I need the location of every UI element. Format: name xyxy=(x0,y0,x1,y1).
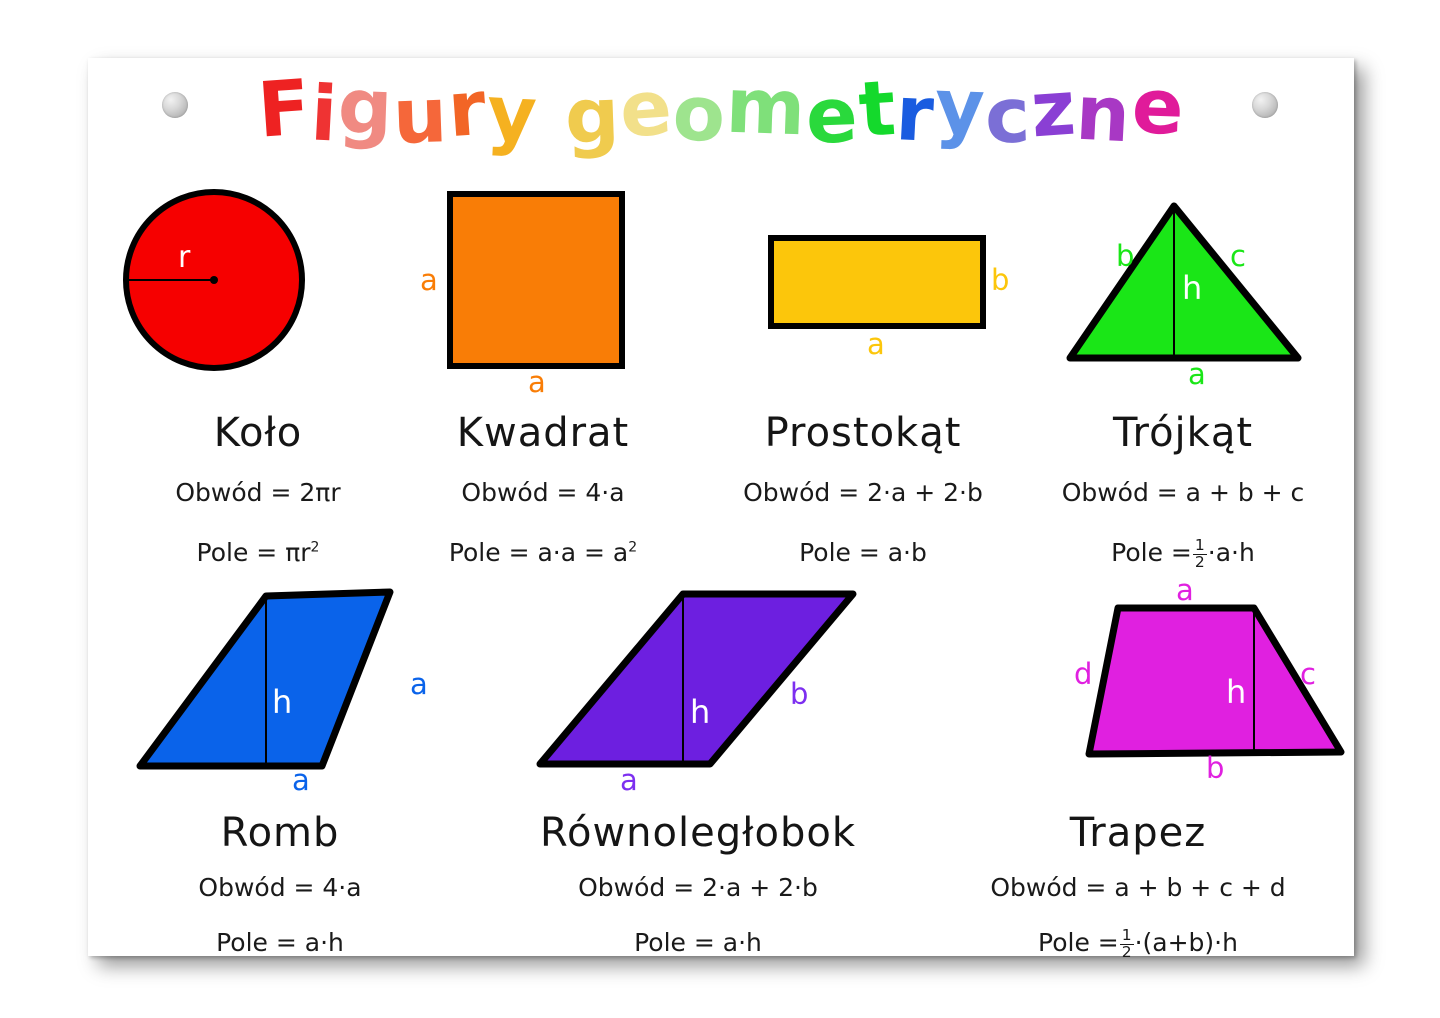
circle-area-exponent: 2 xyxy=(311,540,320,556)
figure-card-square: a a Kwadrat Obwód = 4·a Pole = a·a = a2 xyxy=(408,188,678,598)
trapezoid-area-suffix: ·(a+b)·h xyxy=(1135,928,1238,957)
triangle-label-b: b xyxy=(1116,242,1134,271)
parallelogram-label-b: b xyxy=(790,680,808,709)
title-letter: c xyxy=(984,77,1033,155)
figure-card-rectangle: a b Prostokąt Obwód = 2·a + 2·b Pole = a… xyxy=(713,188,1013,598)
title-letter: F xyxy=(255,69,313,149)
trapezoid-area-formula: Pole =12·(a+b)·h xyxy=(938,928,1338,961)
trapezoid-label-h: h xyxy=(1226,676,1246,708)
circle-perimeter-formula: Obwód = 2πr xyxy=(128,478,388,507)
figure-card-circle: r Koło Obwód = 2πr Pole = πr2 xyxy=(128,188,388,598)
title-letter: o xyxy=(671,75,728,154)
triangle-perimeter-formula: Obwód = a + b + c xyxy=(1038,478,1328,507)
title-letter: z xyxy=(1029,70,1079,149)
title-letter: r xyxy=(894,75,936,153)
rhombus-shape: h a a xyxy=(100,578,460,778)
square-shape: a a xyxy=(408,188,678,373)
triangle-area-formula: Pole =12·a·h xyxy=(1038,538,1328,571)
rectangle-label-b-right: b xyxy=(991,266,1009,295)
figure-name-triangle: Trójkąt xyxy=(1038,410,1328,456)
triangle-area-suffix: ·a·h xyxy=(1208,538,1255,567)
rhombus-label-a-bottom: a xyxy=(292,766,310,795)
title-letter xyxy=(536,69,566,146)
parallelogram-area-formula: Pole = a·h xyxy=(478,928,918,957)
figure-name-rectangle: Prostokąt xyxy=(713,410,1013,456)
figure-name-circle: Koło xyxy=(128,410,388,456)
circle-area-formula: Pole = πr2 xyxy=(128,538,388,567)
square-area-exponent: 2 xyxy=(628,540,637,556)
circle-shape: r xyxy=(128,188,388,373)
triangle-area-fraction: 12 xyxy=(1193,538,1207,571)
title-letter: m xyxy=(725,68,808,147)
rhombus-perimeter-formula: Obwód = 4·a xyxy=(100,873,460,902)
title-letter: n xyxy=(1075,75,1134,154)
figure-card-triangle: b c h a Trójkąt Obwód = a + b + c Pole =… xyxy=(1038,188,1328,598)
poster-stage: Figury geometryczne r Koło Obwód = 2πr P… xyxy=(0,0,1440,1018)
figure-card-parallelogram: h b a Równoległobok Obwód = 2·a + 2·b Po… xyxy=(478,578,918,968)
title-letter: y xyxy=(933,68,986,146)
figure-name-parallelogram: Równoległobok xyxy=(478,810,918,856)
title-letter: i xyxy=(309,75,340,152)
rectangle-body xyxy=(771,238,983,326)
trapezoid-label-b-bottom: b xyxy=(1206,754,1224,783)
trapezoid-label-c-right: c xyxy=(1300,660,1316,689)
title-letter: t xyxy=(856,70,899,148)
title-letter: e xyxy=(805,77,860,155)
parallelogram-shape: h b a xyxy=(478,578,918,778)
title-letter: e xyxy=(618,69,676,148)
trapezoid-shape: a d c h b xyxy=(938,568,1338,780)
figure-name-rhombus: Romb xyxy=(100,810,460,856)
rhombus-area-formula: Pole = a·h xyxy=(100,928,460,957)
circle-area-text: Pole = πr xyxy=(197,538,311,567)
trapezoid-perimeter-formula: Obwód = a + b + c + d xyxy=(938,873,1338,902)
parallelogram-label-h: h xyxy=(690,696,710,728)
figure-card-trapezoid: a d c h b Trapez Obwód = a + b + c + d P… xyxy=(938,568,1338,968)
title-letter: e xyxy=(1130,68,1185,146)
trapezoid-area-prefix: Pole = xyxy=(1038,928,1119,957)
square-area-text: Pole = a·a = a xyxy=(449,538,628,567)
triangle-label-a: a xyxy=(1188,360,1206,389)
figure-name-trapezoid: Trapez xyxy=(938,810,1338,856)
parallelogram-label-a: a xyxy=(620,766,638,795)
triangle-shape: b c h a xyxy=(1038,188,1328,373)
rectangle-perimeter-formula: Obwód = 2·a + 2·b xyxy=(713,478,1013,507)
title-letter: u xyxy=(392,77,450,155)
title-letter: g xyxy=(564,77,622,155)
trapezoid-label-d-left: d xyxy=(1074,660,1092,689)
square-perimeter-formula: Obwód = 4·a xyxy=(408,478,678,507)
trapezoid-area-denominator: 2 xyxy=(1120,945,1134,961)
title-letter: r xyxy=(446,70,490,148)
square-label-a-bottom: a xyxy=(528,368,546,397)
triangle-area-prefix: Pole = xyxy=(1111,538,1192,567)
triangle-label-c: c xyxy=(1230,242,1246,271)
circle-center-dot xyxy=(210,276,218,284)
title-letter: y xyxy=(485,75,539,154)
title-letter: g xyxy=(337,68,395,146)
rectangle-shape: a b xyxy=(713,188,1013,373)
trapezoid-area-fraction: 12 xyxy=(1120,928,1134,961)
page-title: Figury geometryczne xyxy=(88,74,1354,150)
square-label-a-left: a xyxy=(420,266,438,295)
rhombus-label-h: h xyxy=(272,686,292,718)
triangle-label-h: h xyxy=(1182,272,1202,304)
trapezoid-label-a-top: a xyxy=(1176,576,1194,605)
rectangle-area-formula: Pole = a·b xyxy=(713,538,1013,567)
poster-card: Figury geometryczne r Koło Obwód = 2πr P… xyxy=(88,58,1354,956)
figure-name-square: Kwadrat xyxy=(408,410,678,456)
parallelogram-perimeter-formula: Obwód = 2·a + 2·b xyxy=(478,873,918,902)
square-body xyxy=(450,194,622,366)
figure-card-rhombus: h a a Romb Obwód = 4·a Pole = a·h xyxy=(100,578,460,968)
rectangle-label-a-bottom: a xyxy=(867,330,885,359)
square-area-formula: Pole = a·a = a2 xyxy=(408,538,678,567)
circle-label-r: r xyxy=(178,243,190,273)
rhombus-label-a-right: a xyxy=(410,670,428,699)
